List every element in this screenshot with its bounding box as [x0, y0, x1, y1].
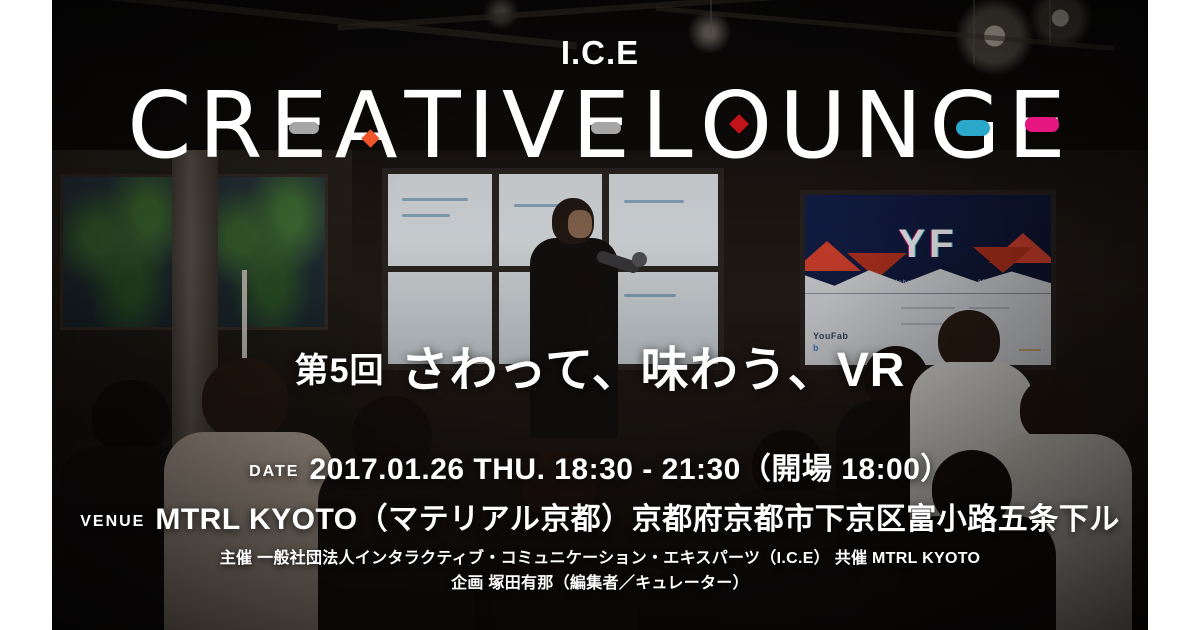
- venue-label: VENUE: [80, 513, 145, 530]
- wordmark-letter: A: [335, 82, 405, 169]
- event-poster: YF YouFab Global Creative Awards 2016 Yo…: [0, 0, 1200, 630]
- event-subtitle: 第5回さわって、味わう、VR: [0, 330, 1200, 400]
- wordmark-letter: T: [405, 82, 468, 169]
- event-subtitle-text: さわって、味わう、VR: [401, 344, 906, 397]
- letter-accent-bar-cyan: [956, 120, 990, 136]
- wordmark-letter: O: [700, 82, 779, 169]
- event-details: DATE2017.01.26 THU. 18:30 - 21:30（開場 18:…: [0, 444, 1200, 538]
- letter-accent-bar-magenta: [1025, 117, 1059, 132]
- wordmark-lounge: LOUNGE: [641, 82, 1072, 169]
- event-wordmark: CREATIVE LOUNGE: [0, 78, 1200, 169]
- poster-content: I.C.E CREATIVE LOUNGE 第5回さわって、味わう、VR DAT…: [0, 0, 1200, 630]
- date-value: 2017.01.26 THU. 18:30 - 21:30（開場 18:00）: [309, 453, 951, 486]
- wordmark-letter: E: [269, 82, 334, 169]
- credit-host: 主催 一般社団法人インタラクティブ・コミュニケーション・エキスパーツ（I.C.E…: [0, 547, 1200, 572]
- wordmark-letter: U: [779, 82, 853, 169]
- wordmark-letter: R: [199, 82, 270, 169]
- wordmark-letter: G: [929, 82, 1007, 169]
- venue-row: VENUEMTRL KYOTO（マテリアル京都）京都府京都市下京区富小路五条下ル: [0, 494, 1200, 538]
- credits-block: 主催 一般社団法人インタラクティブ・コミュニケーション・エキスパーツ（I.C.E…: [0, 547, 1200, 597]
- wordmark-letter: E: [1008, 82, 1073, 169]
- credit-producer: 企画 塚田有那（編集者／キュレーター）: [0, 572, 1200, 597]
- wordmark-letter: L: [641, 82, 699, 169]
- letter-accent-diamond-red: [729, 114, 749, 134]
- wordmark-letter: E: [572, 82, 637, 169]
- letter-accent-bar-grey: [591, 122, 621, 134]
- wordmark-letter: V: [502, 82, 572, 169]
- brand-title: I.C.E: [0, 34, 1200, 72]
- date-label: DATE: [249, 463, 299, 480]
- wordmark-letter: N: [853, 82, 929, 169]
- letter-accent-bar-grey: [289, 122, 319, 134]
- letter-accent-diamond-orange: [361, 129, 379, 147]
- wordmark-creative: CREATIVE: [127, 82, 637, 169]
- date-row: DATE2017.01.26 THU. 18:30 - 21:30（開場 18:…: [0, 444, 1200, 488]
- wordmark-letter: C: [127, 82, 198, 169]
- wordmark-letter: I: [468, 82, 502, 169]
- event-edition: 第5回: [295, 352, 385, 390]
- venue-value: MTRL KYOTO（マテリアル京都）京都府京都市下京区富小路五条下ル: [155, 503, 1119, 536]
